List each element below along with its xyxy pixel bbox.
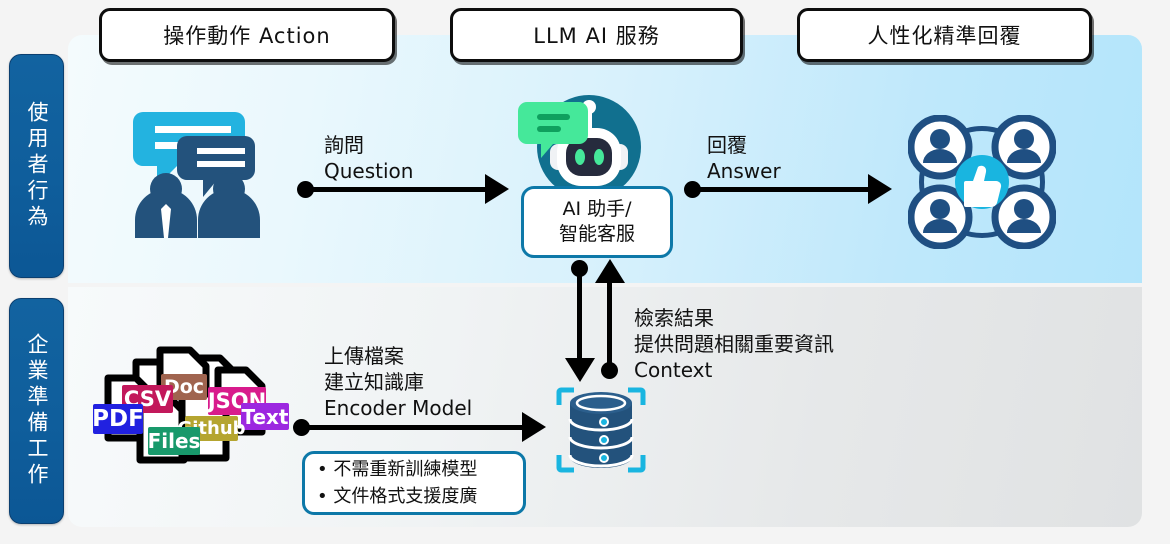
header-box-llm[interactable]: LLM AI 服務 [450, 8, 743, 62]
flow-label-upload: 上傳檔案 建立知識庫 Encoder Model [324, 343, 472, 421]
flow-label-retrieval: 檢索結果 提供問題相關重要資訊 Context [634, 305, 834, 383]
flow-label-answer: 回覆 Answer [707, 132, 781, 184]
ai-assistant-label-line1: AI 助手/ [562, 197, 631, 222]
diagram-canvas: 使用者行為 企業準備工作 操作動作 Action LLM AI 服務 人性化精準… [0, 0, 1170, 544]
sidebar-tab-user-behavior[interactable]: 使用者行為 [9, 54, 64, 278]
users-chat-icon [125, 104, 275, 238]
ai-assistant-label-line2: 智能客服 [559, 222, 635, 247]
file-badge-files: Files [148, 427, 200, 455]
sidebar-tab-user-behavior-label: 使用者行為 [26, 101, 47, 231]
header-box-llm-label: LLM AI 服務 [533, 20, 659, 50]
file-badge-text: Text [241, 403, 289, 430]
flow-label-question: 詢問 Question [324, 132, 413, 184]
note-bullet-2: • 文件格式支援度廣 [317, 483, 523, 510]
thumbs-up-community-icon [908, 115, 1056, 249]
file-badge-pdf: PDF [93, 404, 143, 434]
documents-stack-icon: Doc CSV JSON PDF Text Github Files [78, 338, 293, 468]
note-box[interactable]: • 不需重新訓練模型 • 文件格式支援度廣 [302, 451, 526, 515]
header-box-answer-label: 人性化精準回覆 [868, 20, 1022, 50]
header-box-action-label: 操作動作 Action [163, 20, 330, 50]
header-box-action[interactable]: 操作動作 Action [99, 8, 395, 62]
database-icon [556, 387, 646, 473]
note-bullet-1: • 不需重新訓練模型 [317, 456, 523, 483]
ai-assistant-label[interactable]: AI 助手/ 智能客服 [521, 186, 673, 258]
sidebar-tab-enterprise-prep-label: 企業準備工作 [26, 333, 47, 489]
header-box-answer[interactable]: 人性化精準回覆 [797, 8, 1092, 62]
sidebar-tab-enterprise-prep[interactable]: 企業準備工作 [9, 298, 64, 524]
